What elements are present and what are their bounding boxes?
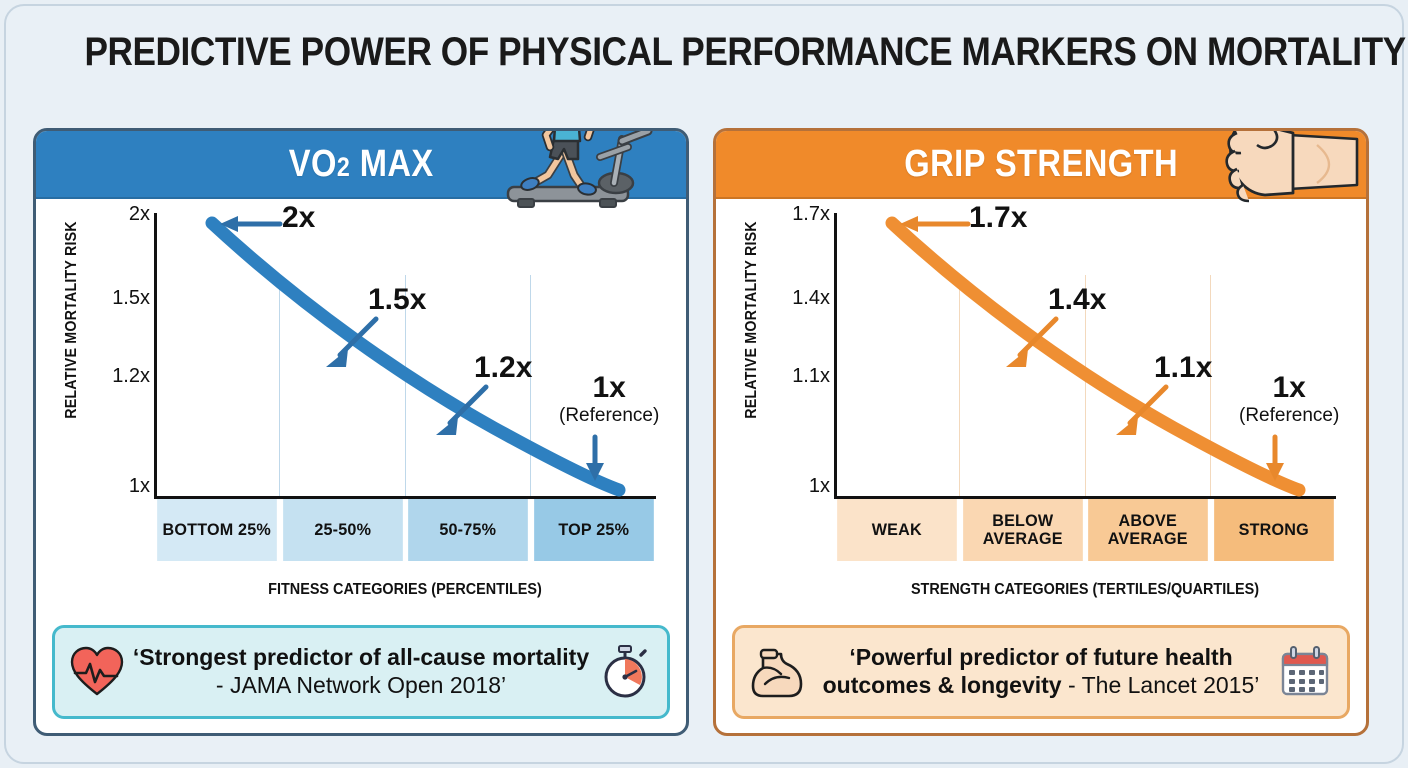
- annotation-group-3: 1x (Reference): [559, 373, 659, 425]
- x-axis-label: STRENGTH CATEGORIES (TERTILES/QUARTILES): [852, 581, 1319, 599]
- calendar-icon: [1277, 644, 1333, 700]
- annotation-label-0: 2x: [282, 203, 315, 233]
- category-band-3: STRONG: [1214, 499, 1333, 561]
- citation-quote: ‘Strongest predictor of all-cause mortal…: [133, 644, 589, 670]
- annotation-arrow-0: [892, 213, 970, 239]
- chart-box-vo2max: 2x 1.5x 1.2x 1x: [154, 213, 656, 499]
- panel-title-subscript: 2: [337, 152, 350, 182]
- panel-vo2max: VO2 MAX: [33, 128, 689, 736]
- y-tick-3: 1x: [129, 475, 150, 498]
- annotation-arrow-0: [212, 213, 282, 239]
- citation-text-gripstrength: ‘Powerful predictor of future health out…: [805, 644, 1277, 699]
- y-axis-label: RELATIVE MORTALITY RISK: [63, 210, 81, 431]
- panel-title-tail: MAX: [350, 143, 433, 185]
- citation-box-gripstrength: ‘Powerful predictor of future health out…: [732, 625, 1350, 719]
- panel-header-vo2max: VO2 MAX: [36, 131, 686, 199]
- page-title: PREDICTIVE POWER OF PHYSICAL PERFORMANCE…: [84, 30, 1323, 75]
- annotation-arrow-1: [314, 311, 384, 373]
- annotation-label-0: 1.7x: [969, 203, 1027, 233]
- flexed-bicep-icon: [749, 644, 805, 700]
- heart-pulse-icon: [69, 644, 125, 700]
- y-tick-3: 1x: [809, 475, 830, 498]
- annotation-group-3: 1x (Reference): [1239, 373, 1339, 425]
- panel-header-gripstrength: GRIP STRENGTH: [716, 131, 1366, 199]
- annotation-arrow-1: [994, 311, 1064, 373]
- panel-gripstrength: GRIP STRENGTH: [713, 128, 1369, 736]
- category-band-2: ABOVE AVERAGE: [1088, 499, 1207, 561]
- y-tick-2: 1.1x: [792, 365, 830, 388]
- annotation-arrow-3: [1262, 435, 1288, 487]
- annotation-arrow-3: [582, 435, 608, 487]
- annotation-sublabel-3: (Reference): [559, 406, 659, 425]
- panel-title-main: VO: [289, 143, 337, 185]
- citation-source: - The Lancet 2015’: [1062, 672, 1260, 698]
- panel-title-gripstrength: GRIP STRENGTH: [904, 143, 1178, 186]
- category-band-0: BOTTOM 25%: [157, 499, 276, 561]
- y-tick-0: 1.7x: [792, 203, 830, 226]
- category-bands-gripstrength: WEAK BELOW AVERAGE ABOVE AVERAGE STRONG: [834, 499, 1336, 561]
- citation-source: - JAMA Network Open 2018’: [216, 672, 506, 698]
- category-band-3: TOP 25%: [534, 499, 653, 561]
- mortality-risk-curve-gripstrength: [834, 213, 1336, 499]
- x-axis-label: FITNESS CATEGORIES (PERCENTILES): [172, 581, 639, 599]
- annotation-arrow-2: [424, 379, 494, 441]
- y-tick-labels-gripstrength: 1.7x 1.4x 1.1x 1x: [774, 199, 830, 499]
- category-band-0: WEAK: [837, 499, 956, 561]
- mortality-risk-curve-vo2max: [154, 213, 656, 499]
- annotation-sublabel-3: (Reference): [1239, 406, 1339, 425]
- y-tick-1: 1.4x: [792, 287, 830, 310]
- category-bands-vo2max: BOTTOM 25% 25-50% 50-75% TOP 25%: [154, 499, 656, 561]
- panel-title-main: GRIP STRENGTH: [904, 143, 1178, 185]
- category-band-1: BELOW AVERAGE: [963, 499, 1082, 561]
- panel-title-vo2max: VO2 MAX: [289, 143, 434, 186]
- citation-box-vo2max: ‘Strongest predictor of all-cause mortal…: [52, 625, 670, 719]
- y-tick-labels-vo2max: 2x 1.5x 1.2x 1x: [94, 199, 150, 499]
- y-tick-1: 1.5x: [112, 287, 150, 310]
- category-band-2: 50-75%: [408, 499, 527, 561]
- stopwatch-icon: [597, 644, 653, 700]
- infographic-root: PREDICTIVE POWER OF PHYSICAL PERFORMANCE…: [0, 0, 1408, 768]
- annotation-label-3: 1x: [592, 371, 625, 404]
- annotation-arrow-2: [1104, 379, 1174, 441]
- chart-box-gripstrength: 1.7x 1.4x 1.1x: [834, 213, 1336, 499]
- citation-text-vo2max: ‘Strongest predictor of all-cause mortal…: [125, 644, 597, 699]
- y-axis-label: RELATIVE MORTALITY RISK: [743, 210, 761, 431]
- y-tick-2: 1.2x: [112, 365, 150, 388]
- annotation-label-3: 1x: [1272, 371, 1305, 404]
- category-band-1: 25-50%: [283, 499, 402, 561]
- y-tick-0: 2x: [129, 203, 150, 226]
